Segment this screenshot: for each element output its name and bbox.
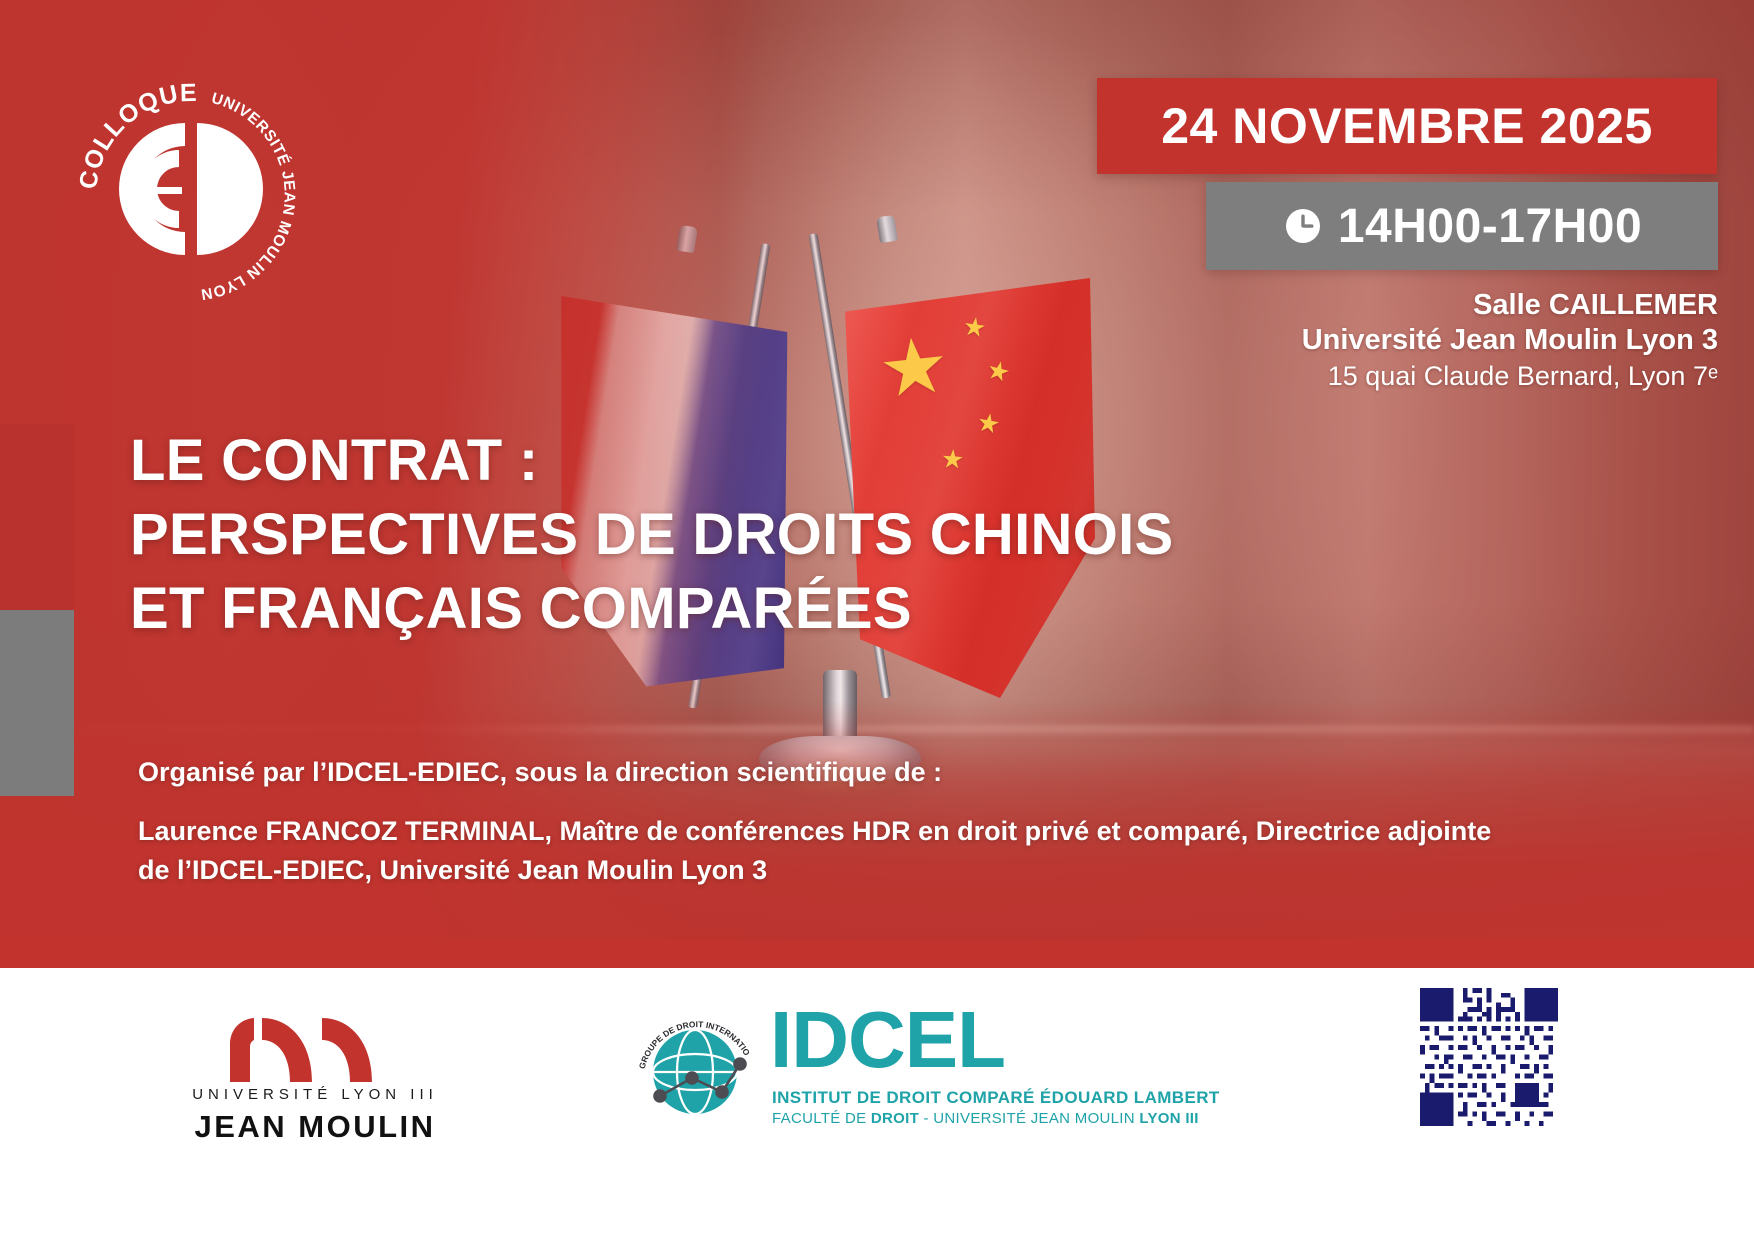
qr-code[interactable] — [1420, 988, 1558, 1126]
title-line-3: ET FRANÇAIS COMPARÉES — [130, 572, 1630, 646]
footer-logos: UNIVERSITÉ LYON III JEAN MOULIN — [0, 968, 1754, 1240]
idcel-tagline-1: INSTITUT DE DROIT COMPARÉ ÉDOUARD LAMBER… — [772, 1088, 1220, 1108]
idcel-tagline-2-prefix: FACULTÉ DE — [772, 1110, 871, 1127]
lyon3-logo: UNIVERSITÉ LYON III JEAN MOULIN — [170, 996, 460, 1145]
idcel-tagline-2-mid: - UNIVERSITÉ JEAN MOULIN — [919, 1110, 1139, 1127]
clock-icon — [1282, 205, 1324, 247]
idcel-tagline-2-lyon: LYON III — [1139, 1110, 1198, 1127]
lyon3-logo-sub: UNIVERSITÉ LYON III — [170, 1086, 460, 1103]
left-edge-red-block — [0, 424, 74, 610]
time-label: 14H00-17H00 — [1338, 199, 1642, 254]
idcel-wordmark: IDCEL — [770, 1000, 1005, 1080]
idcel-logo: GROUPE DE DROIT INTERNATIONAL, EUROPÉEN … — [630, 988, 1150, 1128]
organiser-block: Organisé par l’IDCEL-EDIEC, sous la dire… — [138, 754, 1658, 889]
hero-banner: ★ ★ ★ ★ ★ — [0, 0, 1754, 968]
poster-title: LE CONTRAT : PERSPECTIVES DE DROITS CHIN… — [130, 424, 1630, 647]
colloque-badge-icon: COLLOQUE UNIVERSITÉ JEAN MOULIN LYON 3 — [58, 56, 324, 322]
venue-room: Salle CAILLEMER — [1018, 288, 1718, 323]
venue-block: Salle CAILLEMER Université Jean Moulin L… — [1018, 288, 1718, 394]
idcel-tagline-2: FACULTÉ DE DROIT - UNIVERSITÉ JEAN MOULI… — [772, 1110, 1199, 1127]
title-line-2: PERSPECTIVES DE DROITS CHINOIS — [130, 498, 1630, 572]
idcel-globe-icon: GROUPE DE DROIT INTERNATIONAL, EUROPÉEN … — [630, 1000, 760, 1130]
organiser-lead: Organisé par l’IDCEL-EDIEC, sous la dire… — [138, 754, 1658, 790]
event-poster: ★ ★ ★ ★ ★ — [0, 0, 1754, 1240]
lyon3-logo-icon — [170, 996, 460, 1082]
title-line-1: LE CONTRAT : — [130, 424, 1630, 498]
time-badge: 14H00-17H00 — [1206, 182, 1718, 270]
date-label: 24 NOVEMBRE 2025 — [1161, 97, 1653, 155]
venue-institution: Université Jean Moulin Lyon 3 — [1018, 323, 1718, 358]
left-edge-gray-block — [0, 610, 74, 796]
red-bottom-strip — [0, 940, 1754, 968]
lyon3-arcs-icon — [170, 996, 460, 1082]
organiser-person-line-2: de l’IDCEL-EDIEC, Université Jean Moulin… — [138, 851, 1658, 889]
qr-code-icon[interactable] — [1420, 988, 1558, 1126]
date-badge: 24 NOVEMBRE 2025 — [1097, 78, 1717, 174]
colloque-badge: COLLOQUE UNIVERSITÉ JEAN MOULIN LYON 3 — [58, 56, 324, 322]
lyon3-logo-name: JEAN MOULIN — [170, 1109, 460, 1145]
organiser-person-line-1: Laurence FRANCOZ TERMINAL, Maître de con… — [138, 812, 1658, 850]
venue-address: 15 quai Claude Bernard, Lyon 7ᵉ — [1018, 359, 1718, 394]
idcel-tagline-2-droit: DROIT — [871, 1110, 919, 1127]
